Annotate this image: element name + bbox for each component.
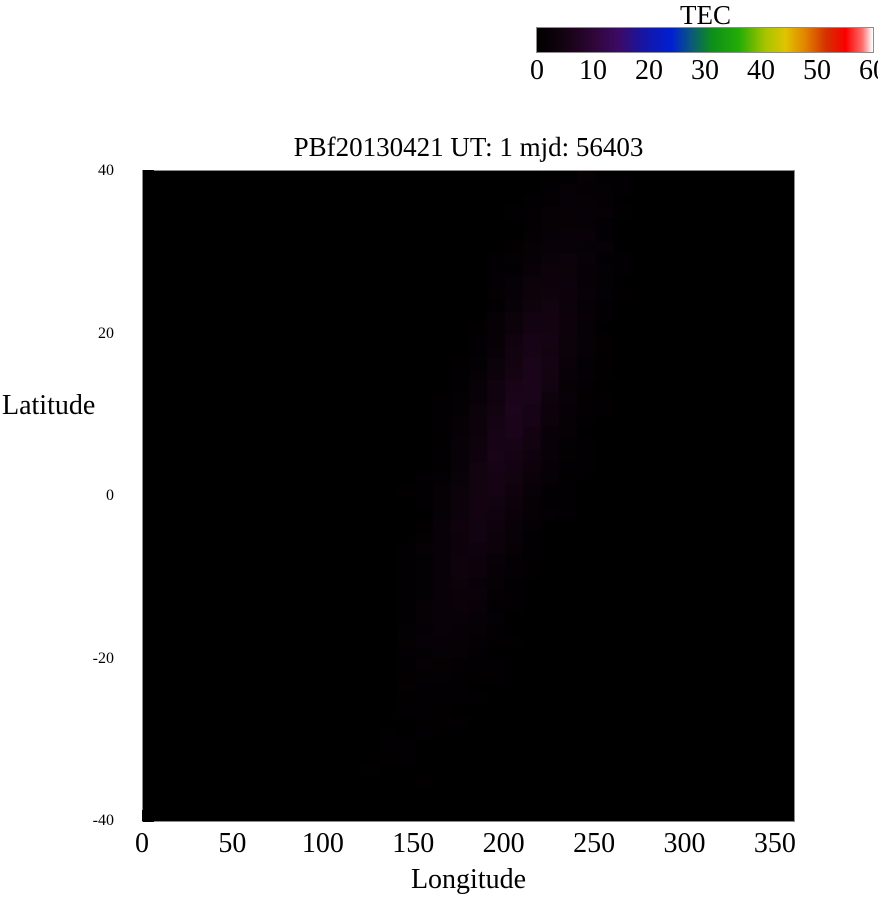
- colorbar-tick-label: 0: [530, 56, 544, 86]
- x-axis-tick-mark: [323, 810, 325, 821]
- colorbar-tick-labels: 0102030405060: [520, 56, 878, 90]
- heatmap-image: [143, 171, 794, 821]
- figure-root: TEC 0102030405060 PBf20130421 UT: 1 mjd:…: [0, 0, 878, 900]
- colorbar-tick-label: 20: [635, 56, 663, 86]
- x-axis-tick-label: 150: [392, 828, 434, 860]
- x-axis-tick-mark: [142, 810, 144, 821]
- y-axis-tick-label: 40: [0, 162, 128, 180]
- x-axis-tick-mark: [685, 810, 687, 821]
- x-axis-tick-mark: [775, 810, 777, 821]
- x-axis-tick-label: 350: [754, 828, 796, 860]
- colorbar-tick-label: 10: [579, 56, 607, 86]
- x-axis-tick-label: 100: [302, 828, 344, 860]
- colorbar-tick-label: 40: [747, 56, 775, 86]
- y-axis-tick-mark: [143, 495, 154, 497]
- colorbar-title: TEC: [537, 2, 874, 29]
- x-axis-tick-mark: [504, 810, 506, 821]
- x-axis-title: Longitude: [142, 864, 795, 896]
- x-axis-tick-label: 200: [483, 828, 525, 860]
- y-axis-tick-mark: [143, 170, 154, 172]
- x-axis-tick-mark: [413, 810, 415, 821]
- plot-title: PBf20130421 UT: 1 mjd: 56403: [142, 132, 795, 162]
- colorbar: [536, 27, 874, 53]
- y-axis-tick-label: -40: [0, 812, 128, 830]
- colorbar-gradient: [537, 28, 873, 52]
- y-axis-tick-mark: [143, 820, 154, 822]
- y-axis-tick-labels: -40-2002040: [0, 170, 128, 822]
- colorbar-tick-label: 60: [859, 56, 878, 86]
- x-axis-tick-label: 300: [664, 828, 706, 860]
- colorbar-tick-label: 30: [691, 56, 719, 86]
- y-axis-tick-label: -20: [0, 650, 128, 668]
- x-axis-tick-labels: 050100150200250300350: [142, 828, 795, 862]
- colorbar-tick-label: 50: [803, 56, 831, 86]
- y-axis-tick-label: 0: [0, 487, 128, 505]
- heatmap-plot-area: [142, 170, 795, 822]
- y-axis-tick-label: 20: [0, 325, 128, 343]
- y-axis-title: Latitude: [2, 390, 95, 422]
- x-axis-tick-label: 250: [573, 828, 615, 860]
- y-axis-tick-mark: [143, 333, 154, 335]
- x-axis-tick-label: 0: [135, 828, 149, 860]
- x-axis-tick-label: 50: [218, 828, 246, 860]
- x-axis-tick-mark: [232, 810, 234, 821]
- y-axis-tick-mark: [143, 658, 154, 660]
- x-axis-tick-mark: [594, 810, 596, 821]
